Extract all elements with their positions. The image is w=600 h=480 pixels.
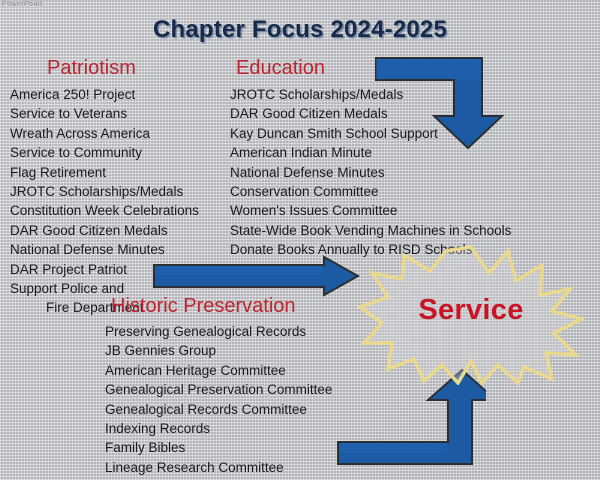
list-item: Service to Community	[10, 143, 199, 162]
section-heading-education: Education	[236, 57, 325, 80]
slide-title: Chapter Focus 2024-2025	[0, 16, 600, 44]
list-item: State-Wide Book Vending Machines in Scho…	[230, 221, 511, 240]
list-item: America 250! Project	[10, 85, 199, 104]
presentation-slide: PowerPoint Chapter Focus 2024-2025 Patri…	[0, 0, 600, 480]
list-item: Genealogical Preservation Committee	[105, 380, 332, 399]
list-item: Preserving Genealogical Records	[105, 322, 332, 341]
list-item: JB Gennies Group	[105, 341, 332, 360]
service-callout-label: Service	[358, 294, 584, 327]
list-item: Flag Retirement	[10, 163, 199, 182]
list-item: Conservation Committee	[230, 182, 511, 201]
list-item: Lineage Research Committee	[105, 458, 332, 477]
list-item: Constitution Week Celebrations	[10, 201, 199, 220]
section-heading-historic-preservation: Historic Preservation	[111, 295, 296, 318]
topic-list-historic-preservation: Preserving Genealogical RecordsJB Gennie…	[105, 322, 332, 480]
arrow-right-icon	[152, 255, 362, 297]
list-item: DAR Good Citizen Medals	[10, 221, 199, 240]
list-item: Service to Veterans	[10, 104, 199, 123]
list-item: JROTC Scholarships/Medals	[10, 182, 199, 201]
list-item: Family Bibles	[105, 438, 332, 457]
list-item: American Heritage Committee	[105, 361, 332, 380]
section-heading-patriotism: Patriotism	[47, 57, 136, 80]
list-item: Genealogical Records Committee	[105, 400, 332, 419]
list-item: Indexing Records	[105, 419, 332, 438]
list-item: Women's Issues Committee	[230, 201, 511, 220]
powerpoint-watermark-label: PowerPoint	[2, 0, 43, 9]
list-item: Wreath Across America	[10, 124, 199, 143]
elbow-arrow-right-down-icon	[374, 54, 514, 152]
list-item: National Defense Minutes	[230, 163, 511, 182]
